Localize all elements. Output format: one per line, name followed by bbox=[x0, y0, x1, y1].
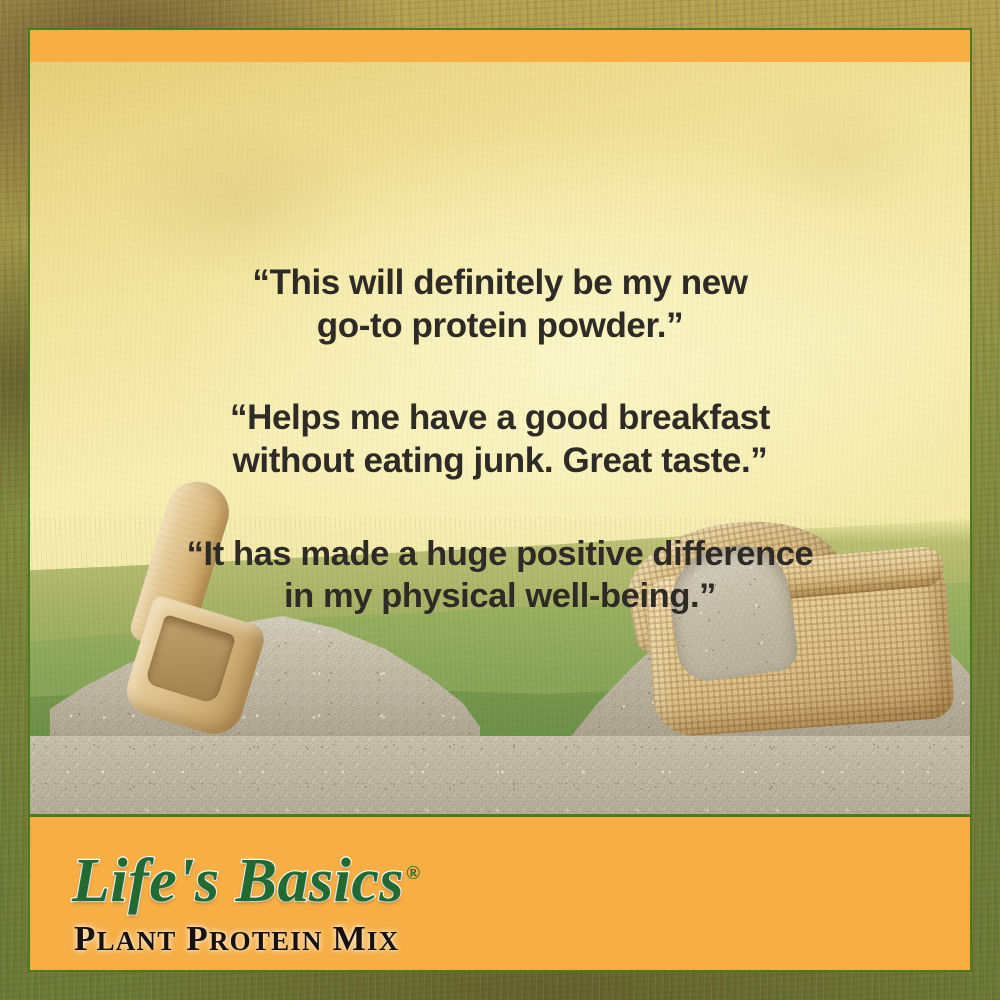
brand-name: Life's Basics® bbox=[62, 850, 421, 912]
powder-ground-strip bbox=[30, 736, 970, 814]
testimonial-quote-1: “This will definitely be my new go-to pr… bbox=[76, 262, 924, 347]
bottom-orange-band: Life's Basics® PLANT PROTEIN MIX bbox=[30, 814, 970, 970]
scoop-cavity bbox=[145, 614, 237, 704]
product-line-name: PLANT PROTEIN MIX bbox=[62, 921, 482, 956]
testimonial-list: “This will definitely be my new go-to pr… bbox=[30, 262, 970, 617]
top-orange-band bbox=[30, 30, 970, 62]
brand-logo: Life's Basics® PLANT PROTEIN MIX bbox=[62, 850, 482, 956]
testimonial-quote-2: “Helps me have a good breakfast without … bbox=[76, 397, 924, 482]
scene-illustration: “This will definitely be my new go-to pr… bbox=[30, 62, 970, 814]
brand-name-text: Life's Basics bbox=[72, 847, 404, 915]
poster: “This will definitely be my new go-to pr… bbox=[0, 0, 1000, 1000]
inner-panel: “This will definitely be my new go-to pr… bbox=[28, 28, 972, 972]
powder-grain-texture bbox=[30, 736, 970, 814]
testimonial-quote-3: “It has made a huge positive difference … bbox=[76, 533, 924, 617]
registered-trademark-icon: ® bbox=[406, 863, 421, 884]
